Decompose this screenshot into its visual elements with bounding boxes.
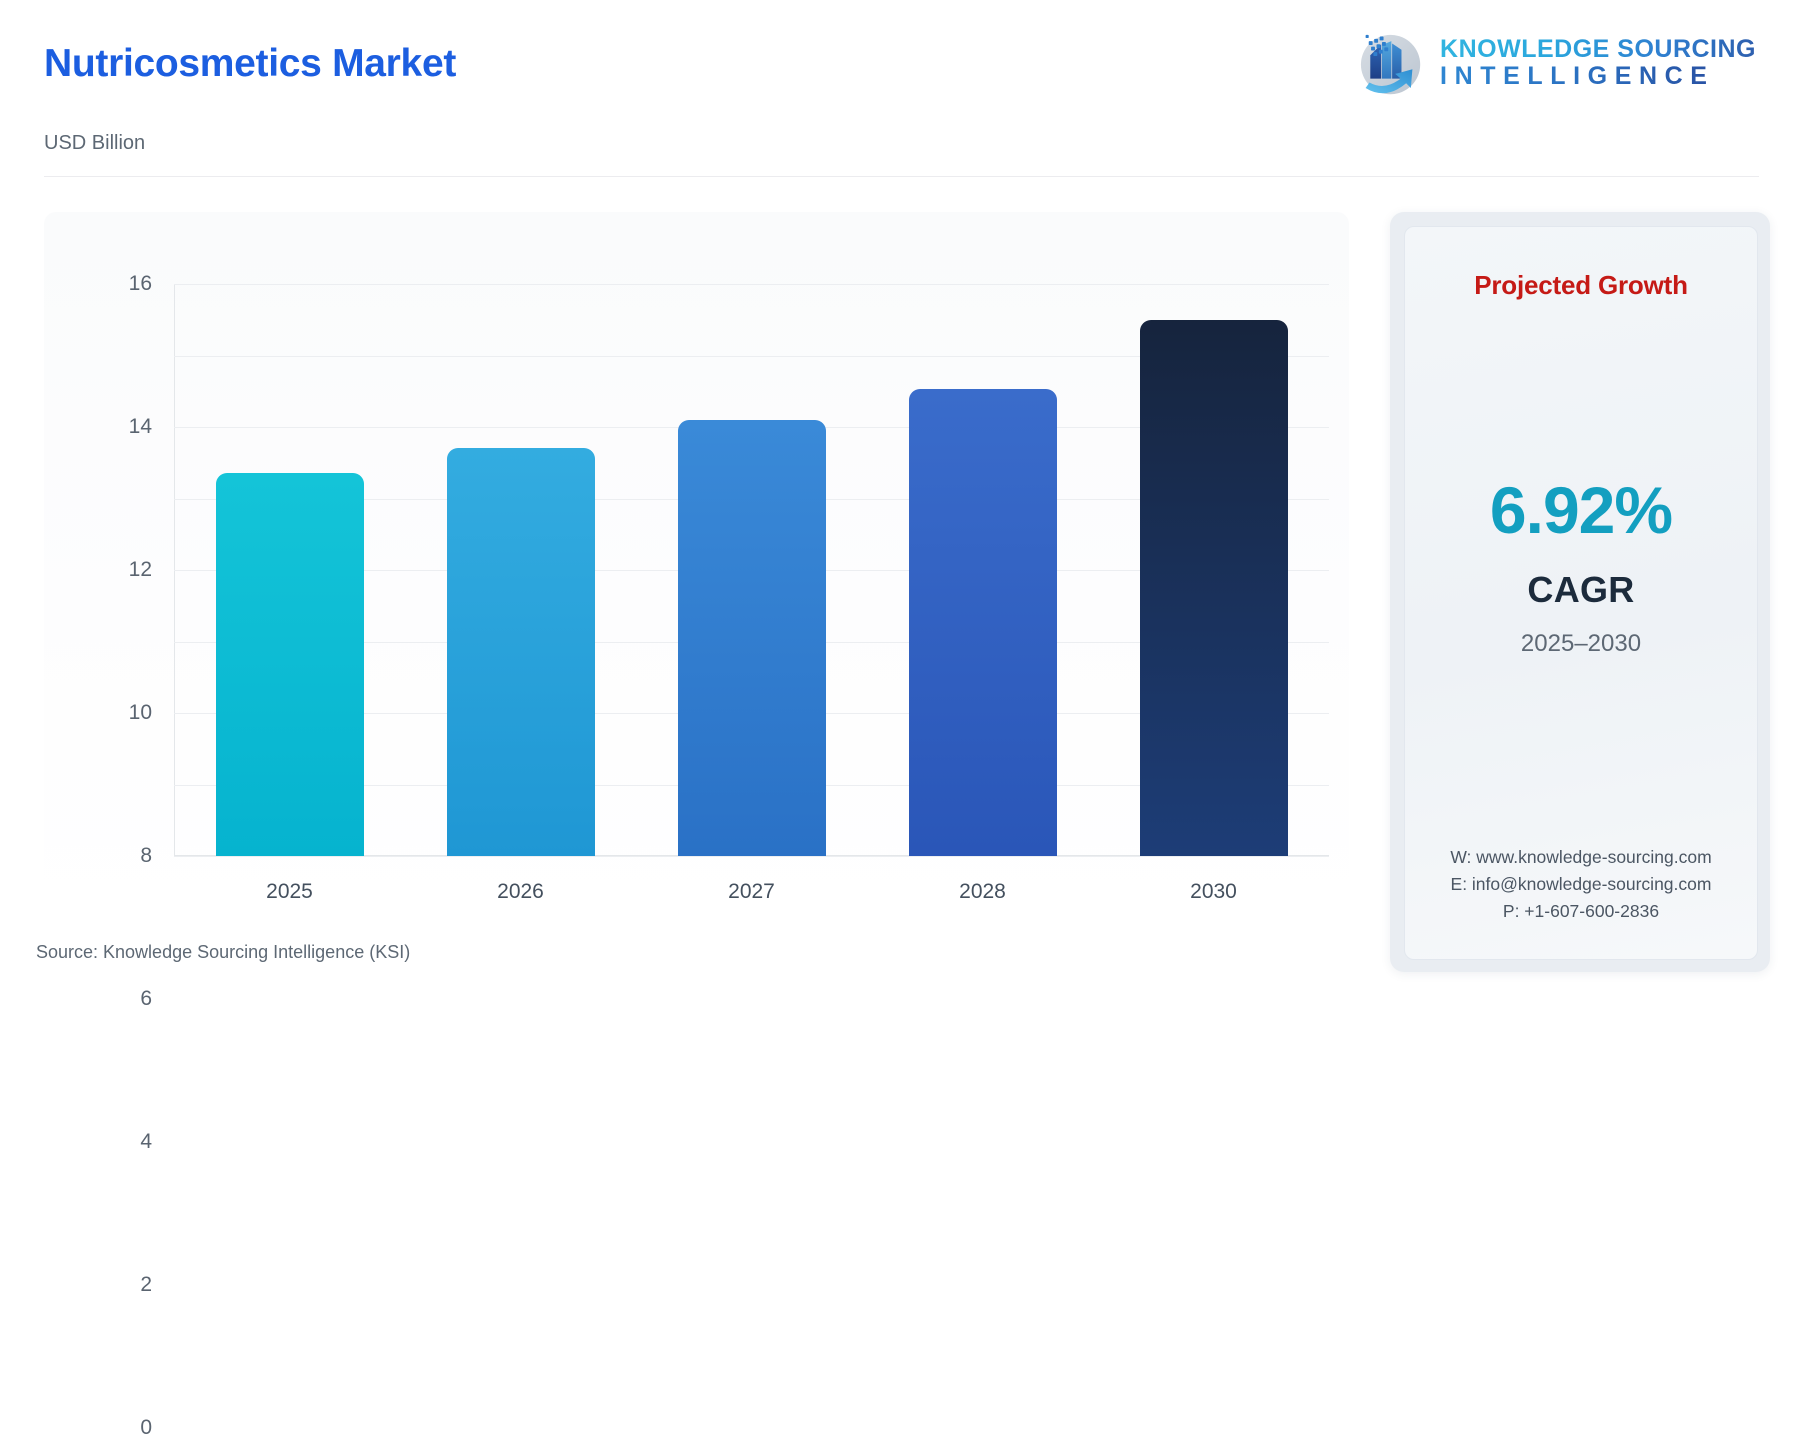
contact-phone[interactable]: P: +1-607-600-2836 — [1405, 898, 1757, 925]
page-title: Nutricosmetics Market — [44, 42, 456, 86]
x-axis-tick-label: 2027 — [636, 880, 867, 904]
x-axis-tick-label: 2025 — [174, 880, 405, 904]
y-axis-tick-label: 4 — [140, 1130, 152, 1154]
projected-growth-card: Projected Growth 6.92% CAGR 2025–2030 W:… — [1404, 226, 1758, 960]
gridline: 0 — [174, 856, 1329, 857]
brand-logo: KNOWLEDGE SOURCING INTELLIGENCE — [1350, 24, 1756, 102]
y-axis-tick-label: 16 — [129, 272, 152, 296]
cagr-label: CAGR — [1527, 569, 1634, 611]
plot-area: 0246810121416 — [174, 284, 1329, 856]
bar-slot — [174, 284, 405, 856]
chart-panel: 0246810121416 20252026202720282030 — [44, 212, 1349, 922]
page-header: Nutricosmetics Market USD Billion — [0, 0, 1800, 182]
header-divider — [44, 176, 1759, 177]
bar-slot — [1098, 284, 1329, 856]
x-axis-tick-label: 2026 — [405, 880, 636, 904]
bar-2028[interactable] — [909, 389, 1057, 856]
contact-website[interactable]: W: www.knowledge-sourcing.com — [1405, 844, 1757, 871]
cagr-period: 2025–2030 — [1521, 630, 1641, 658]
contact-info: W: www.knowledge-sourcing.com E: info@kn… — [1405, 844, 1757, 925]
bar-slot — [636, 284, 867, 856]
y-axis-tick-label: 10 — [129, 701, 152, 725]
bar-2025[interactable] — [216, 473, 364, 856]
brand-name-primary: KNOWLEDGE SOURCING — [1440, 36, 1756, 63]
projected-growth-panel: Projected Growth 6.92% CAGR 2025–2030 W:… — [1390, 212, 1770, 972]
ksi-globe-buildings-arrow-icon — [1350, 24, 1428, 102]
page-subtitle: USD Billion — [44, 132, 145, 155]
bar-series — [174, 284, 1329, 856]
source-note: Source: Knowledge Sourcing Intelligence … — [36, 942, 410, 963]
brand-logo-text: KNOWLEDGE SOURCING INTELLIGENCE — [1440, 36, 1756, 90]
y-axis-tick-label: 12 — [129, 558, 152, 582]
y-axis-tick-label: 8 — [140, 844, 152, 868]
bar-2030[interactable] — [1140, 320, 1288, 856]
panel-title: Projected Growth — [1474, 270, 1688, 301]
bar-slot — [405, 284, 636, 856]
y-axis-tick-label: 6 — [140, 987, 152, 1011]
brand-name-secondary: INTELLIGENCE — [1440, 63, 1756, 90]
y-axis-tick-label: 14 — [129, 415, 152, 439]
contact-email[interactable]: E: info@knowledge-sourcing.com — [1405, 871, 1757, 898]
y-axis-tick-label: 0 — [140, 1416, 152, 1440]
y-axis-tick-label: 2 — [140, 1273, 152, 1297]
bar-2026[interactable] — [447, 448, 595, 856]
bar-2027[interactable] — [678, 420, 826, 856]
x-axis-tick-label: 2028 — [867, 880, 1098, 904]
cagr-value: 6.92% — [1490, 477, 1672, 543]
bar-slot — [867, 284, 1098, 856]
x-axis-tick-label: 2030 — [1098, 880, 1329, 904]
